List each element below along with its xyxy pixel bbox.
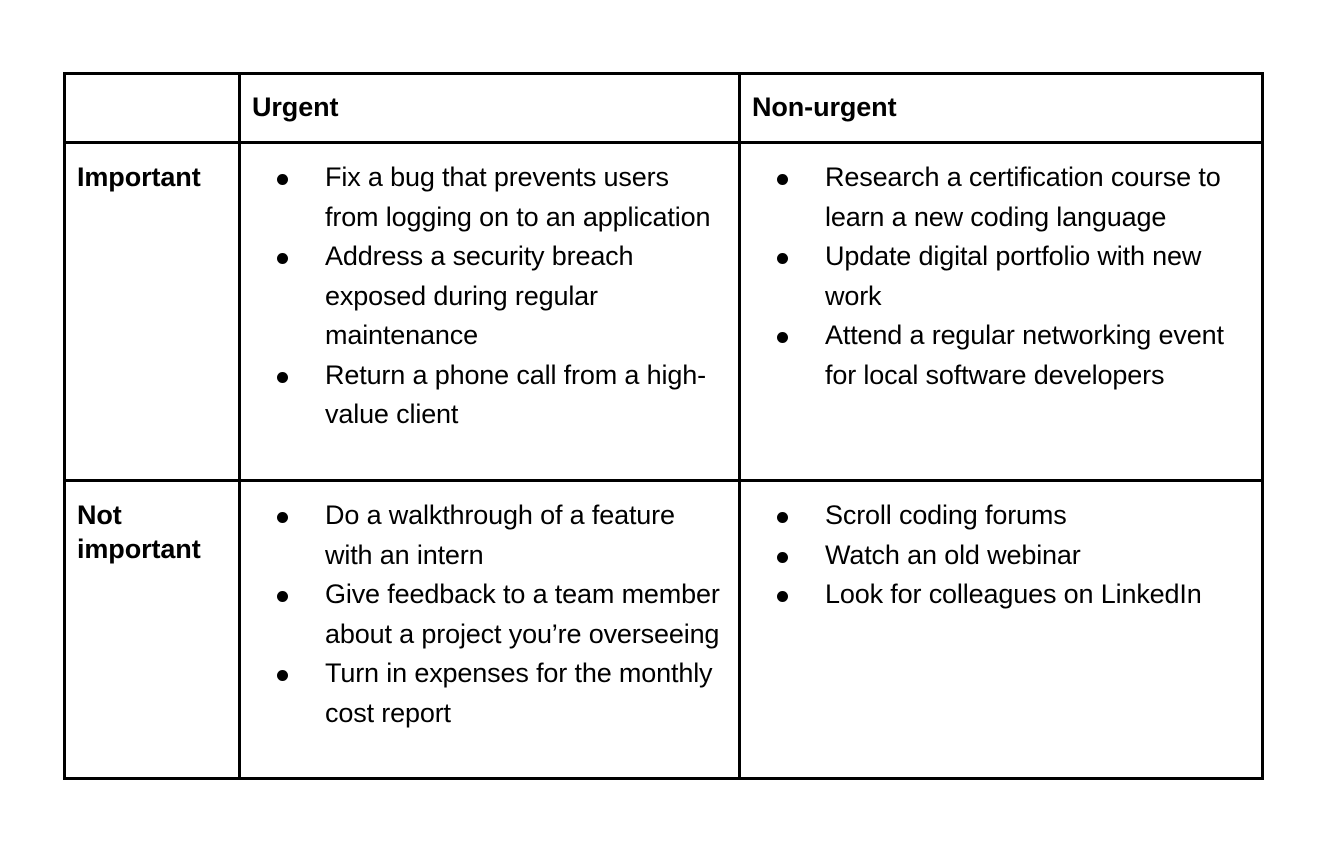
task-list-important-nonurgent: Research a certification course to learn… — [741, 158, 1247, 395]
list-item-text: Give feedback to a team member about a p… — [325, 579, 720, 649]
cell-important-urgent-inner: Fix a bug that prevents users from loggi… — [241, 144, 738, 451]
cell-important-nonurgent-inner: Research a certification course to learn… — [741, 144, 1261, 411]
row-header-important-inner: Important — [66, 144, 238, 204]
row-header-important: Important — [65, 143, 240, 481]
column-header-urgent-label: Urgent — [252, 90, 726, 124]
list-item-text: Fix a bug that prevents users from loggi… — [325, 162, 710, 232]
bullet-icon — [277, 496, 290, 536]
table-corner-cell — [65, 74, 240, 143]
eisenhower-matrix-page: Urgent Non-urgent Important — [0, 0, 1338, 852]
list-item-text: Update digital portfolio with new work — [825, 241, 1201, 311]
bullet-icon — [777, 316, 790, 356]
list-item-text: Return a phone call from a high-value cl… — [325, 360, 706, 430]
list-item-text: Research a certification course to learn… — [825, 162, 1221, 232]
table-row-important: Important Fix a bug that prevents users … — [65, 143, 1263, 481]
corner-cell-inner — [66, 75, 238, 141]
list-item-text: Look for colleagues on LinkedIn — [825, 579, 1202, 609]
cell-important-urgent: Fix a bug that prevents users from loggi… — [240, 143, 740, 481]
list-item-text: Turn in expenses for the monthly cost re… — [325, 658, 712, 728]
bullet-icon — [277, 575, 290, 615]
list-item: Look for colleagues on LinkedIn — [741, 575, 1247, 615]
table-header-row: Urgent Non-urgent — [65, 74, 1263, 143]
cell-not-important-urgent: Do a walkthrough of a feature with an in… — [240, 481, 740, 779]
row-header-important-label: Important — [77, 160, 228, 194]
cell-not-important-nonurgent: Scroll coding forums Watch an old webina… — [740, 481, 1263, 779]
list-item: Research a certification course to learn… — [741, 158, 1247, 237]
task-list-not-important-urgent: Do a walkthrough of a feature with an in… — [241, 496, 724, 733]
bullet-icon — [777, 575, 790, 615]
list-item: Return a phone call from a high-value cl… — [241, 356, 724, 435]
task-list-important-urgent: Fix a bug that prevents users from loggi… — [241, 158, 724, 435]
cell-not-important-nonurgent-inner: Scroll coding forums Watch an old webina… — [741, 482, 1261, 631]
list-item-text: Scroll coding forums — [825, 500, 1067, 530]
list-item: Attend a regular networking event for lo… — [741, 316, 1247, 395]
list-item: Give feedback to a team member about a p… — [241, 575, 724, 654]
list-item: Scroll coding forums — [741, 496, 1247, 536]
bullet-icon — [777, 536, 790, 576]
priority-matrix-table: Urgent Non-urgent Important — [63, 72, 1264, 780]
column-header-urgent-inner: Urgent — [241, 75, 738, 138]
bullet-icon — [777, 158, 790, 198]
cell-not-important-urgent-inner: Do a walkthrough of a feature with an in… — [241, 482, 738, 749]
list-item: Update digital portfolio with new work — [741, 237, 1247, 316]
list-item-text: Attend a regular networking event for lo… — [825, 320, 1224, 390]
list-item: Fix a bug that prevents users from loggi… — [241, 158, 724, 237]
cell-important-nonurgent: Research a certification course to learn… — [740, 143, 1263, 481]
bullet-icon — [277, 654, 290, 694]
bullet-icon — [277, 237, 290, 277]
list-item: Watch an old webinar — [741, 536, 1247, 576]
bullet-icon — [777, 237, 790, 277]
list-item-text: Address a security breach exposed during… — [325, 241, 633, 350]
list-item-text: Watch an old webinar — [825, 540, 1081, 570]
bullet-icon — [277, 158, 290, 198]
bullet-icon — [277, 356, 290, 396]
column-header-nonurgent: Non-urgent — [740, 74, 1263, 143]
bullet-icon — [777, 496, 790, 536]
list-item-text: Do a walkthrough of a feature with an in… — [325, 500, 675, 570]
list-item: Address a security breach exposed during… — [241, 237, 724, 356]
row-header-not-important: Not important — [65, 481, 240, 779]
list-item: Do a walkthrough of a feature with an in… — [241, 496, 724, 575]
column-header-urgent: Urgent — [240, 74, 740, 143]
list-item: Turn in expenses for the monthly cost re… — [241, 654, 724, 733]
table-row-not-important: Not important Do a walkthrough of a feat… — [65, 481, 1263, 779]
row-header-not-important-label: Not important — [77, 498, 228, 566]
column-header-nonurgent-inner: Non-urgent — [741, 75, 1261, 138]
row-header-not-important-inner: Not important — [66, 482, 238, 576]
task-list-not-important-nonurgent: Scroll coding forums Watch an old webina… — [741, 496, 1247, 615]
column-header-nonurgent-label: Non-urgent — [752, 90, 1249, 124]
